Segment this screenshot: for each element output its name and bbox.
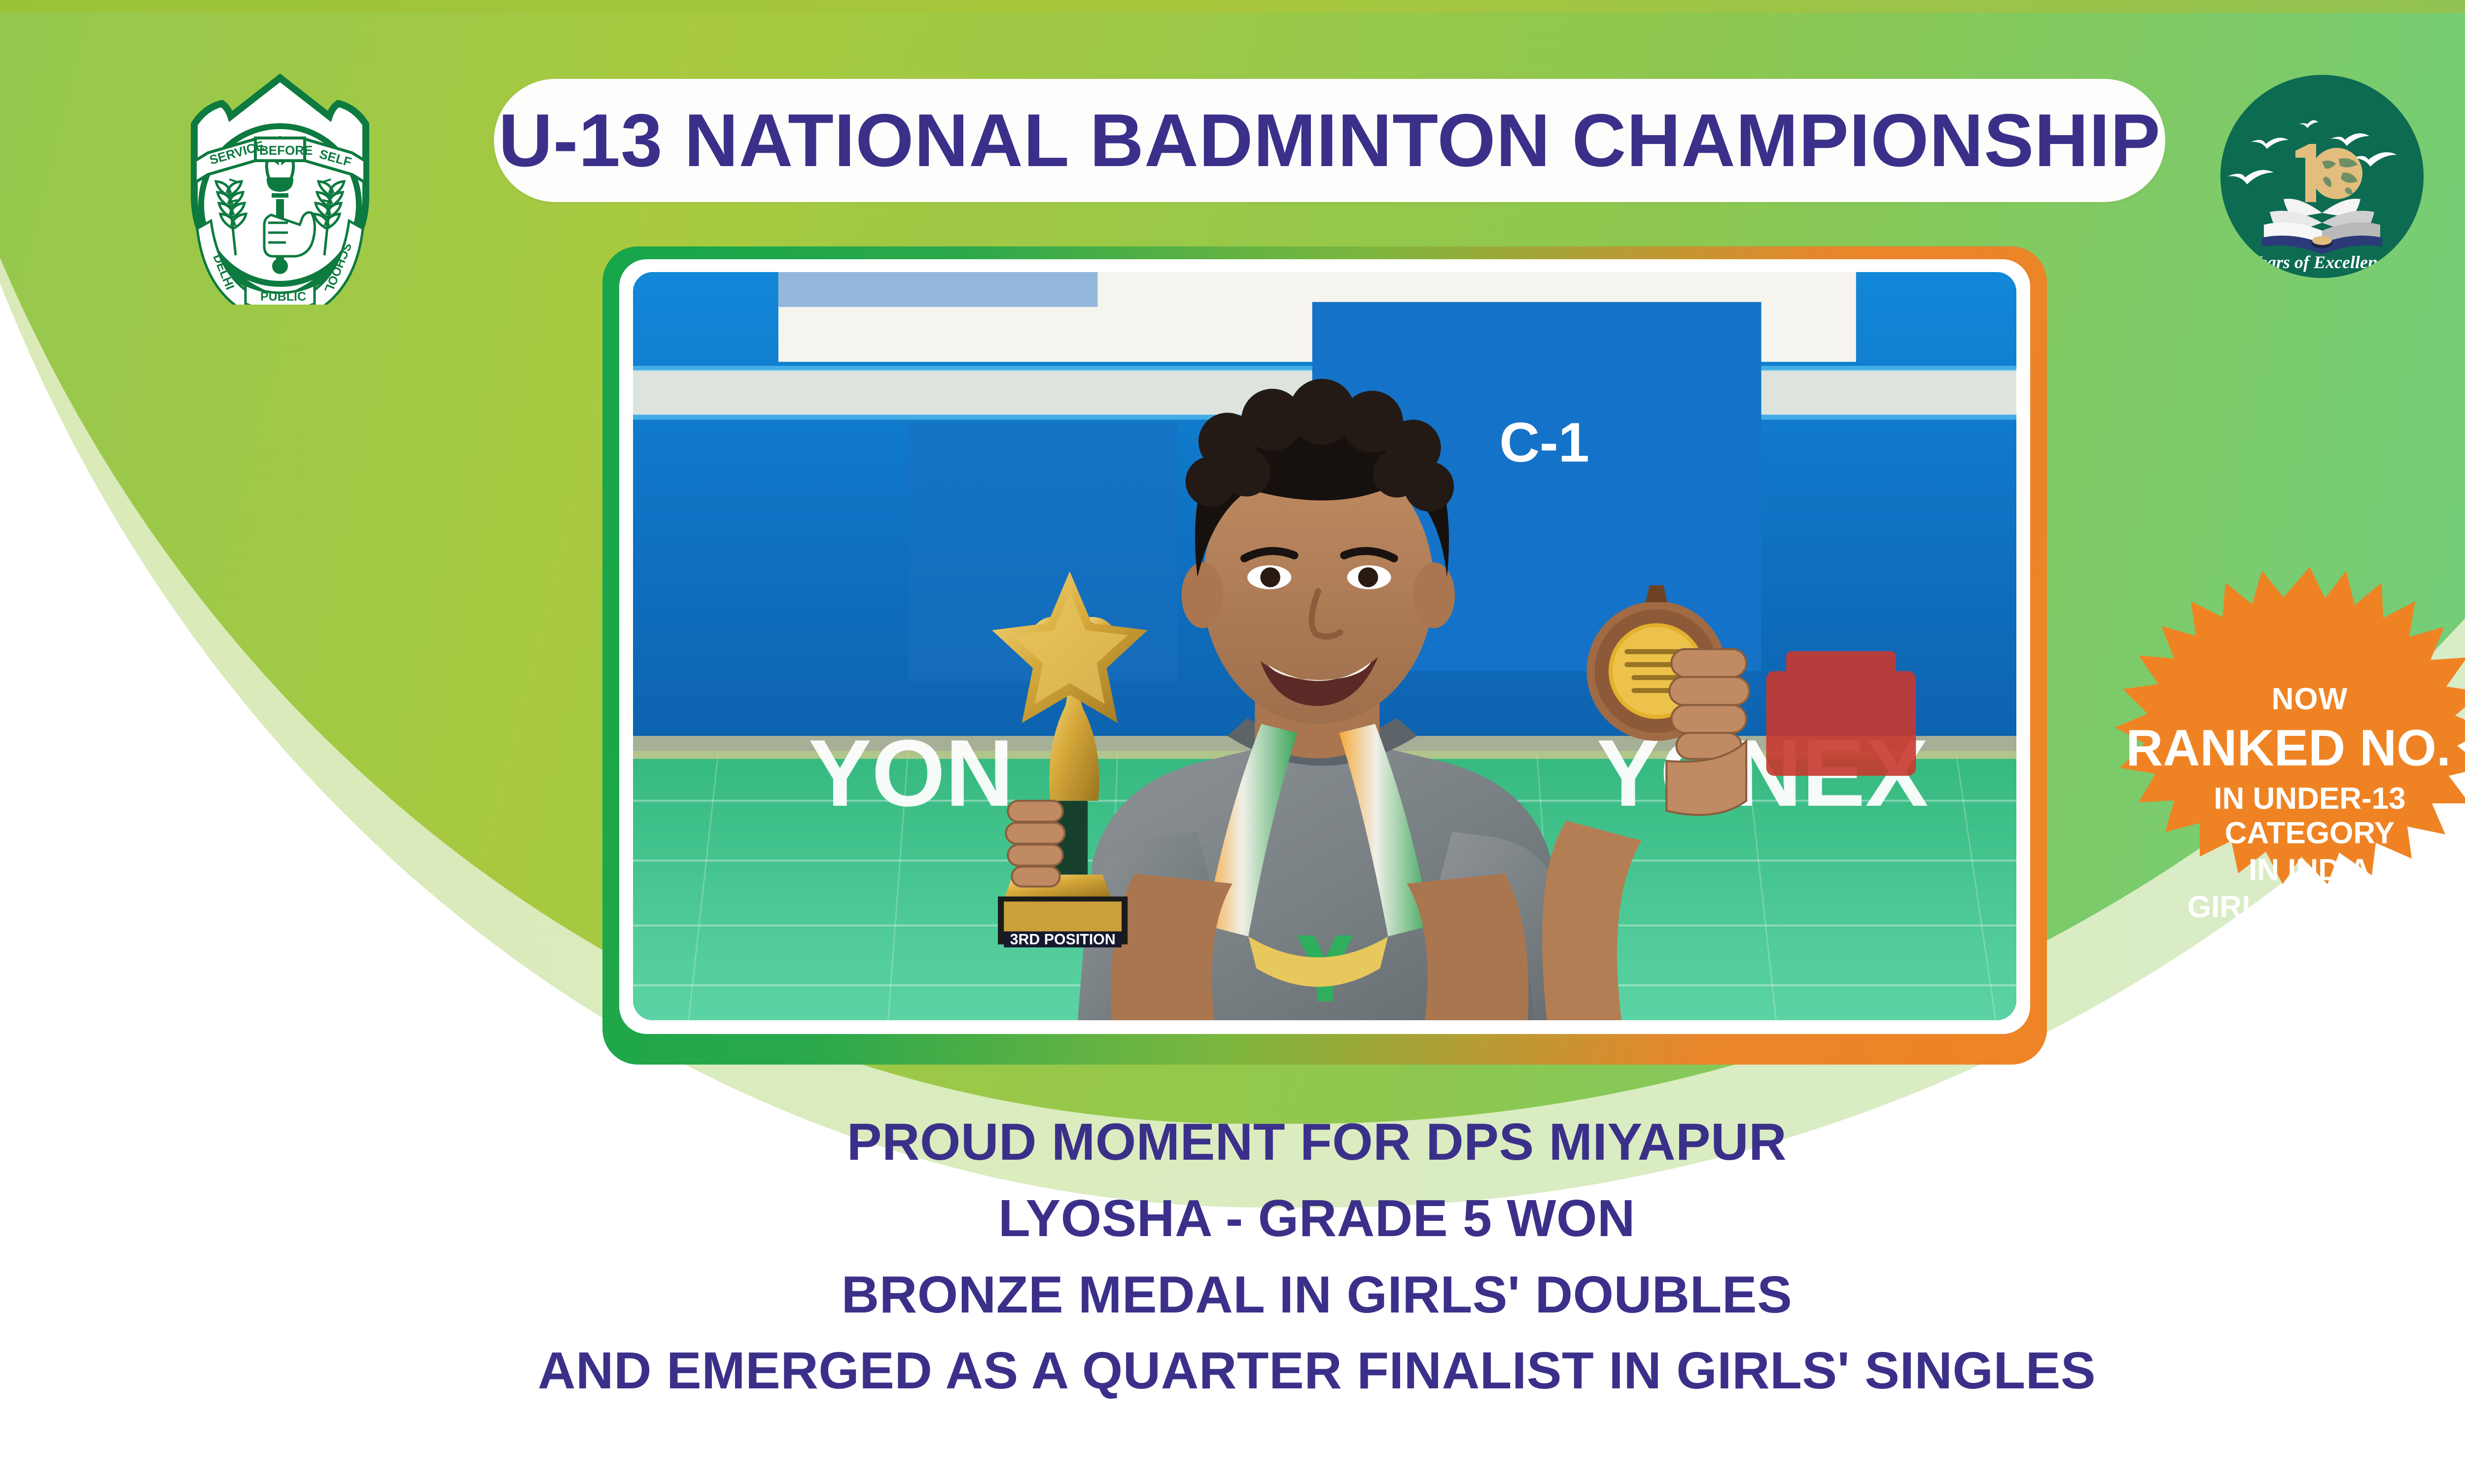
rank-category-line-1: IN UNDER-13 bbox=[2214, 782, 2405, 816]
caption-line-2: LYOSHA - GRADE 5 WON bbox=[0, 1180, 2465, 1257]
crest-ring-public: PUBLIC bbox=[260, 290, 306, 304]
rank-label-now: NOW bbox=[2272, 682, 2348, 716]
poster-root: SERVICE BEFORE SELF DELHI PUBLIC SCHOOL … bbox=[0, 0, 2465, 1484]
rank-starburst-badge: NOW RANKED NO. 9 IN UNDER-13 CATEGORY IN… bbox=[2115, 567, 2465, 1040]
caption-line-4: AND EMERGED AS A QUARTER FINALIST IN GIR… bbox=[0, 1333, 2465, 1409]
banner-brand-left: YON bbox=[809, 720, 1014, 826]
rank-category-line-2: CATEGORY bbox=[2225, 816, 2395, 850]
caption-line-1: PROUD MOMENT FOR DPS MIYAPUR bbox=[0, 1104, 2465, 1180]
rank-value: RANKED NO. 9 bbox=[2126, 720, 2465, 777]
photo-white-mat: C-1 bbox=[619, 259, 2030, 1034]
background-top-strip bbox=[0, 0, 2465, 13]
court-sign-label: C-1 bbox=[1499, 412, 1589, 474]
school-crest-logo: SERVICE BEFORE SELF DELHI PUBLIC SCHOOL bbox=[181, 73, 379, 305]
page-title: U-13 NATIONAL BADMINTON CHAMPIONSHIP bbox=[498, 98, 2161, 184]
rank-badge-text: NOW RANKED NO. 9 IN UNDER-13 CATEGORY IN… bbox=[2115, 567, 2465, 1040]
rank-country: IN INDIA bbox=[2249, 853, 2371, 887]
title-banner: U-13 NATIONAL BADMINTON CHAMPIONSHIP bbox=[494, 79, 2165, 202]
championship-photo: C-1 bbox=[633, 272, 2016, 1020]
photo-frame: C-1 bbox=[602, 246, 2047, 1065]
rank-event: GIRLS SINGLES. bbox=[2187, 890, 2432, 924]
trophy-plaque-label: 3RD POSITION bbox=[1010, 932, 1116, 948]
crest-motto-before: BEFORE bbox=[259, 143, 313, 158]
caption-line-3: BRONZE MEDAL IN GIRLS' DOUBLES bbox=[0, 1257, 2465, 1333]
caption-block: PROUD MOMENT FOR DPS MIYAPUR LYOSHA - GR… bbox=[0, 1104, 2465, 1409]
anniversary-badge: Years of Excellence bbox=[2220, 75, 2424, 278]
